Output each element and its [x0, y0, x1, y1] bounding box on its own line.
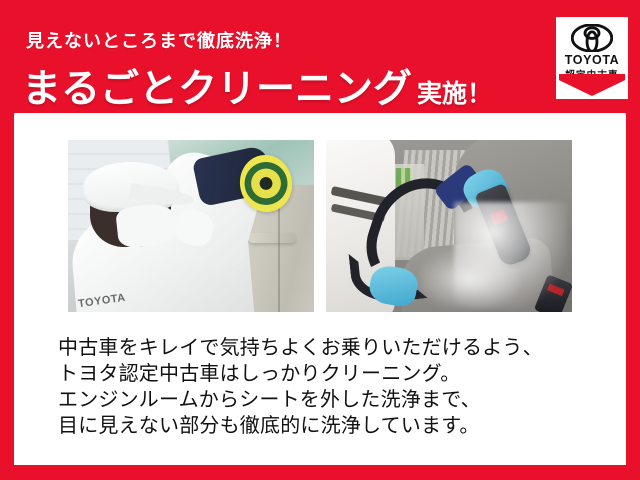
body-line-4: 目に見えない部分も徹底的に洗浄しています。: [58, 413, 598, 439]
header-headline: まるごとクリーニング 実施！: [22, 58, 492, 114]
badge-inner: TOYOTA 認定中古車: [559, 20, 625, 96]
toyota-wordmark: TOYOTA: [559, 53, 625, 67]
body-line-2: トヨタ認定中古車はしっかりクリーニング。: [58, 361, 598, 387]
steam-plume-lower: [420, 250, 518, 308]
toyota-emblem-icon: [571, 24, 613, 52]
promo-banner: 見えないところまで徹底洗浄！ まるごとクリーニング 実施！ TOYOTA 認定中…: [0, 0, 640, 480]
banner-header: 見えないところまで徹底洗浄！ まるごとクリーニング 実施！ TOYOTA 認定中…: [0, 0, 640, 113]
headline-sub-text: 実施！: [417, 74, 492, 110]
content-panel: TOYOTA: [14, 113, 626, 465]
header-kicker: 見えないところまで徹底洗浄！: [26, 27, 292, 53]
toyota-certified-badge: TOYOTA 認定中古車: [556, 17, 628, 99]
headline-main-text: まるごとクリーニング: [22, 58, 412, 114]
body-line-1: 中古車をキレイで気持ちよくお乗りいただけるよう、: [58, 335, 598, 361]
photo-row: TOYOTA: [68, 140, 572, 312]
body-line-3: エンジンルームからシートを外した洗浄まで、: [58, 387, 598, 413]
body-copy: 中古車をキレイで気持ちよくお乗りいただけるよう、 トヨタ認定中古車はしっかりクリ…: [58, 335, 598, 439]
photo-polishing: TOYOTA: [68, 140, 314, 312]
photo-steam-cleaning: [326, 140, 572, 312]
badge-chevron-shape: [559, 74, 625, 96]
car-door-seam: [278, 192, 280, 312]
